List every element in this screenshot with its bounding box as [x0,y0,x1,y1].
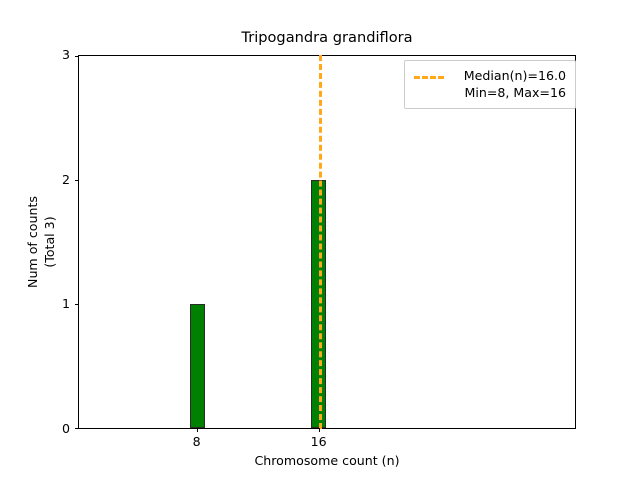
x-tick-label-8: 8 [193,435,201,449]
figure-canvas: Tripogandra grandiflora 3210 816 Chromos… [0,0,640,480]
x-tick-8 [197,428,198,432]
page-title: Tripogandra grandiflora [78,29,576,47]
plot-area [78,55,576,429]
y-tick-2 [75,180,79,181]
x-tick-16 [319,428,320,432]
y-tick-1 [75,304,79,305]
plot-inner [79,56,575,428]
legend-label-median: Median(n)=16.0 [453,67,566,84]
median-line-swatch-icon [414,69,444,85]
legend-label-minmax: Min=8, Max=16 [453,84,566,101]
legend: Median(n)=16.0 Min=8, Max=16 [404,60,576,109]
median-reference-line [319,55,322,429]
legend-text: Median(n)=16.0 Min=8, Max=16 [453,67,566,101]
x-axis-label: Chromosome count (n) [78,453,576,468]
y-axis-label: Num of counts (Total 3) [24,55,58,429]
y-tick-0 [75,428,79,429]
y-tick-3 [75,56,79,57]
x-tick-label-16: 16 [311,435,327,449]
bar-8 [190,304,205,428]
